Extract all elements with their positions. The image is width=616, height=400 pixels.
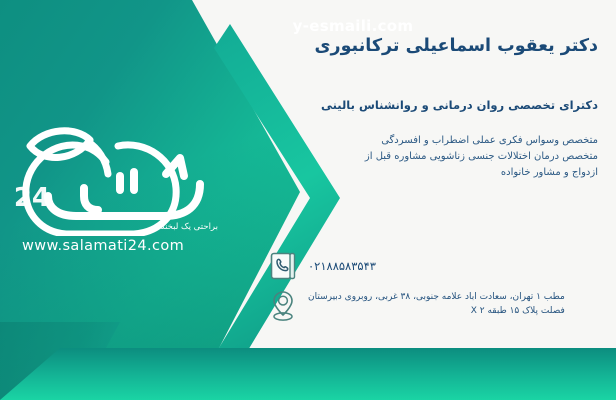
specialties-list: متخصص وسواس فکری عملی اضطراب و افسردگی م… (268, 133, 598, 181)
info-column: دکتر یعقوب اسماعیلی ترکانبوری دکترای تخص… (268, 0, 598, 400)
business-card: 24 براحتی یک لبخند www.salamati24.com دک… (0, 0, 616, 400)
doctor-degree: دکترای تخصصی روان درمانی و روانشناس بالی… (268, 98, 598, 112)
logo-tagline: براحتی یک لبخند (161, 222, 218, 232)
footer-bar (0, 348, 616, 400)
address-line: مطب ۱ تهران، سعادت اباد علامه جنوبی، ۳۸ … (308, 290, 565, 304)
location-pin-icon (268, 288, 298, 320)
footer-content: y-esmaili.com (0, 0, 616, 52)
address-text: مطب ۱ تهران، سعادت اباد علامه جنوبی، ۳۸ … (308, 290, 565, 318)
specialty-line: متخصص وسواس فکری عملی اضطراب و افسردگی (268, 133, 598, 149)
svg-text:24: 24 (14, 183, 50, 213)
specialty-line: ازدواج و مشاور خانواده (268, 165, 598, 181)
apple-leaf-icon: 24 (14, 118, 226, 236)
footer-website[interactable]: y-esmaili.com (203, 17, 414, 35)
specialty-line: متخصص درمان اختلالات جنسی زناشویی مشاوره… (268, 149, 598, 165)
logo-website: www.salamati24.com (22, 238, 184, 254)
salamati24-logo: 24 براحتی یک لبخند www.salamati24.com (14, 118, 226, 270)
address-line: فصلت پلاک ۱۵ طبقه ۲ X (308, 304, 565, 318)
phone-number: ۰۲۱۸۸۵۸۳۵۴۳ (308, 259, 376, 274)
phonebook-icon (268, 250, 298, 282)
address-row[interactable]: مطب ۱ تهران، سعادت اباد علامه جنوبی، ۳۸ … (268, 288, 598, 320)
phone-row[interactable]: ۰۲۱۸۸۵۸۳۵۴۳ (268, 250, 598, 282)
